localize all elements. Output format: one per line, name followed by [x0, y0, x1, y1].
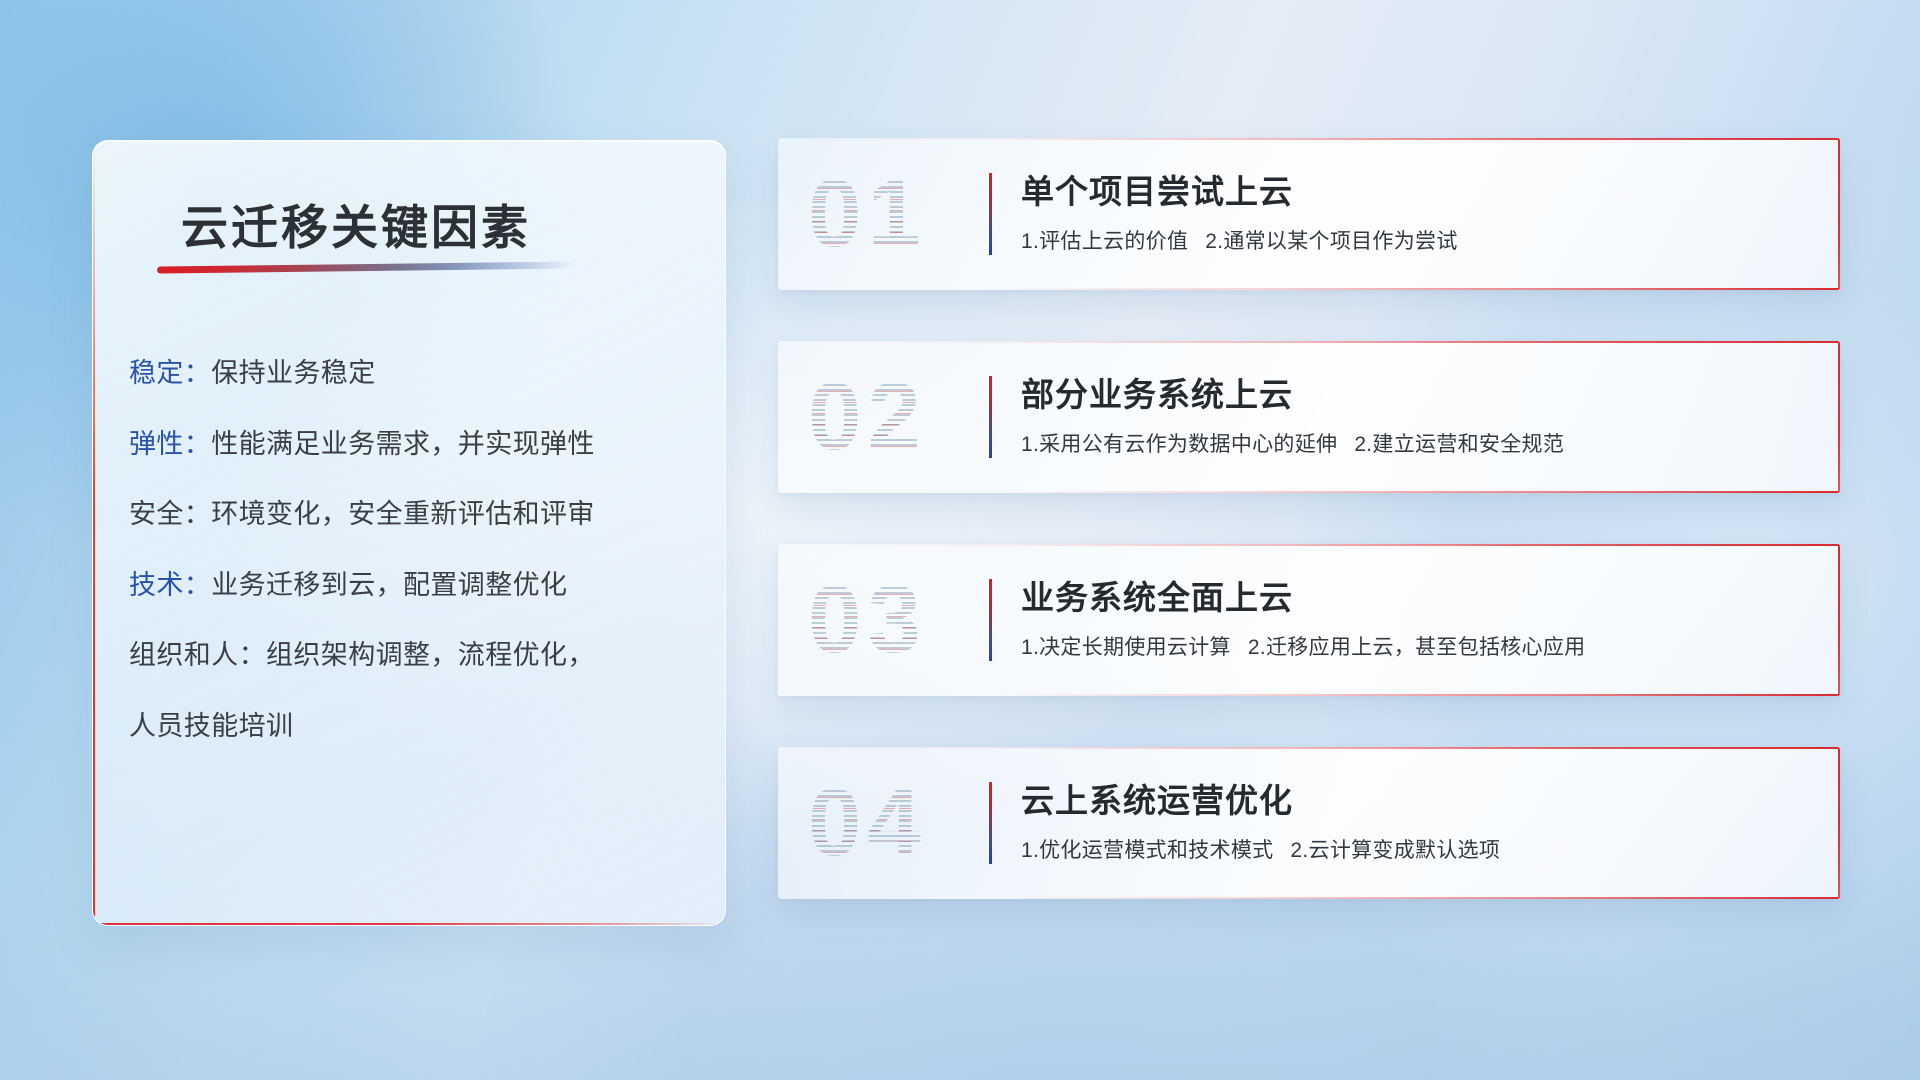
title-underline-rule	[157, 261, 577, 273]
factor-label: 弹性：	[129, 429, 211, 459]
factor-label: 技术：	[129, 570, 211, 600]
stage-divider-bar	[989, 782, 992, 864]
stage-divider-bar	[989, 376, 992, 458]
factor-list: 稳定：保持业务稳定 弹性：性能满足业务需求，并实现弹性 安全：环境变化，安全重新…	[129, 353, 697, 776]
card-bottom-accent	[778, 288, 1840, 290]
stage-divider-bar	[989, 173, 992, 255]
factor-row: 弹性：性能满足业务需求，并实现弹性	[129, 424, 697, 465]
stage-title: 单个项目尝试上云	[1021, 172, 1800, 212]
stage-description-part-2: 2.建立运营和安全规范	[1354, 433, 1564, 456]
card-right-accent	[1838, 544, 1840, 696]
migration-stage-list: 01 01 单个项目尝试上云 1.评估上云的价值2.通常以某个项目作为尝试 02…	[778, 138, 1840, 950]
card-accent-bottom	[93, 923, 725, 925]
factor-row: 组织和人：组织架构调整，流程优化，	[129, 635, 697, 676]
card-top-accent	[778, 544, 1840, 546]
card-right-accent	[1838, 747, 1840, 899]
stage-number: 02	[808, 369, 927, 465]
stage-card-03[interactable]: 03 03 业务系统全面上云 1.决定长期使用云计算2.迁移应用上云，甚至包括核…	[778, 544, 1840, 696]
factor-text: 性能满足业务需求，并实现弹性	[211, 429, 595, 459]
card-top-accent	[778, 747, 1840, 749]
stage-number: 04	[808, 775, 927, 871]
stage-title: 部分业务系统上云	[1021, 375, 1800, 415]
card-accent-left	[93, 141, 95, 925]
factor-row: 技术：业务迁移到云，配置调整优化	[129, 565, 697, 606]
card-bottom-accent	[778, 491, 1840, 493]
card-bottom-accent	[778, 694, 1840, 696]
factor-row: 稳定：保持业务稳定	[129, 353, 697, 394]
stage-description: 1.优化运营模式和技术模式2.云计算变成默认选项	[1021, 837, 1800, 864]
slide-stage: 云迁移关键因素 稳定：保持业务稳定 弹性：性能满足业务需求，并实现弹性 安全：环…	[0, 0, 1920, 1080]
stage-body: 业务系统全面上云 1.决定长期使用云计算2.迁移应用上云，甚至包括核心应用	[1021, 578, 1800, 661]
factor-label: 组织和人：	[129, 640, 266, 670]
card-right-accent	[1838, 138, 1840, 290]
stage-body: 部分业务系统上云 1.采用公有云作为数据中心的延伸2.建立运营和安全规范	[1021, 375, 1800, 458]
factor-text: 组织架构调整，流程优化，	[266, 640, 595, 670]
key-factors-card: 云迁移关键因素 稳定：保持业务稳定 弹性：性能满足业务需求，并实现弹性 安全：环…	[92, 140, 726, 926]
stage-title: 云上系统运营优化	[1021, 781, 1800, 821]
stage-divider-bar	[989, 579, 992, 661]
stage-number: 01	[808, 166, 927, 262]
stage-card-02[interactable]: 02 02 部分业务系统上云 1.采用公有云作为数据中心的延伸2.建立运营和安全…	[778, 341, 1840, 493]
card-right-accent	[1838, 341, 1840, 493]
factor-row-continuation: 人员技能培训	[129, 706, 697, 747]
stage-description-part-1: 1.采用公有云作为数据中心的延伸	[1021, 433, 1337, 456]
factor-row: 安全：环境变化，安全重新评估和评审	[129, 494, 697, 535]
factor-text: 人员技能培训	[129, 711, 293, 741]
stage-card-04[interactable]: 04 04 云上系统运营优化 1.优化运营模式和技术模式2.云计算变成默认选项	[778, 747, 1840, 899]
stage-description-part-2: 2.云计算变成默认选项	[1290, 839, 1500, 862]
page-title: 云迁移关键因素	[181, 189, 531, 258]
stage-title: 业务系统全面上云	[1021, 578, 1800, 618]
factor-text: 业务迁移到云，配置调整优化	[211, 570, 567, 600]
stage-body: 单个项目尝试上云 1.评估上云的价值2.通常以某个项目作为尝试	[1021, 172, 1800, 255]
factor-label: 稳定：	[129, 358, 211, 388]
stage-body: 云上系统运营优化 1.优化运营模式和技术模式2.云计算变成默认选项	[1021, 781, 1800, 864]
card-bottom-accent	[778, 897, 1840, 899]
factor-label: 安全：	[129, 499, 211, 529]
stage-card-01[interactable]: 01 01 单个项目尝试上云 1.评估上云的价值2.通常以某个项目作为尝试	[778, 138, 1840, 290]
stage-description: 1.评估上云的价值2.通常以某个项目作为尝试	[1021, 228, 1800, 255]
factor-text: 环境变化，安全重新评估和评审	[211, 499, 595, 529]
stage-description-part-1: 1.优化运营模式和技术模式	[1021, 839, 1273, 862]
card-top-accent	[778, 341, 1840, 343]
stage-description: 1.采用公有云作为数据中心的延伸2.建立运营和安全规范	[1021, 431, 1800, 458]
stage-description-part-1: 1.决定长期使用云计算	[1021, 636, 1231, 659]
stage-description-part-1: 1.评估上云的价值	[1021, 230, 1188, 253]
stage-description: 1.决定长期使用云计算2.迁移应用上云，甚至包括核心应用	[1021, 634, 1800, 661]
factor-text: 保持业务稳定	[211, 358, 375, 388]
stage-description-part-2: 2.通常以某个项目作为尝试	[1205, 230, 1457, 253]
stage-number: 03	[808, 572, 927, 668]
card-top-accent	[778, 138, 1840, 140]
stage-description-part-2: 2.迁移应用上云，甚至包括核心应用	[1248, 636, 1586, 659]
